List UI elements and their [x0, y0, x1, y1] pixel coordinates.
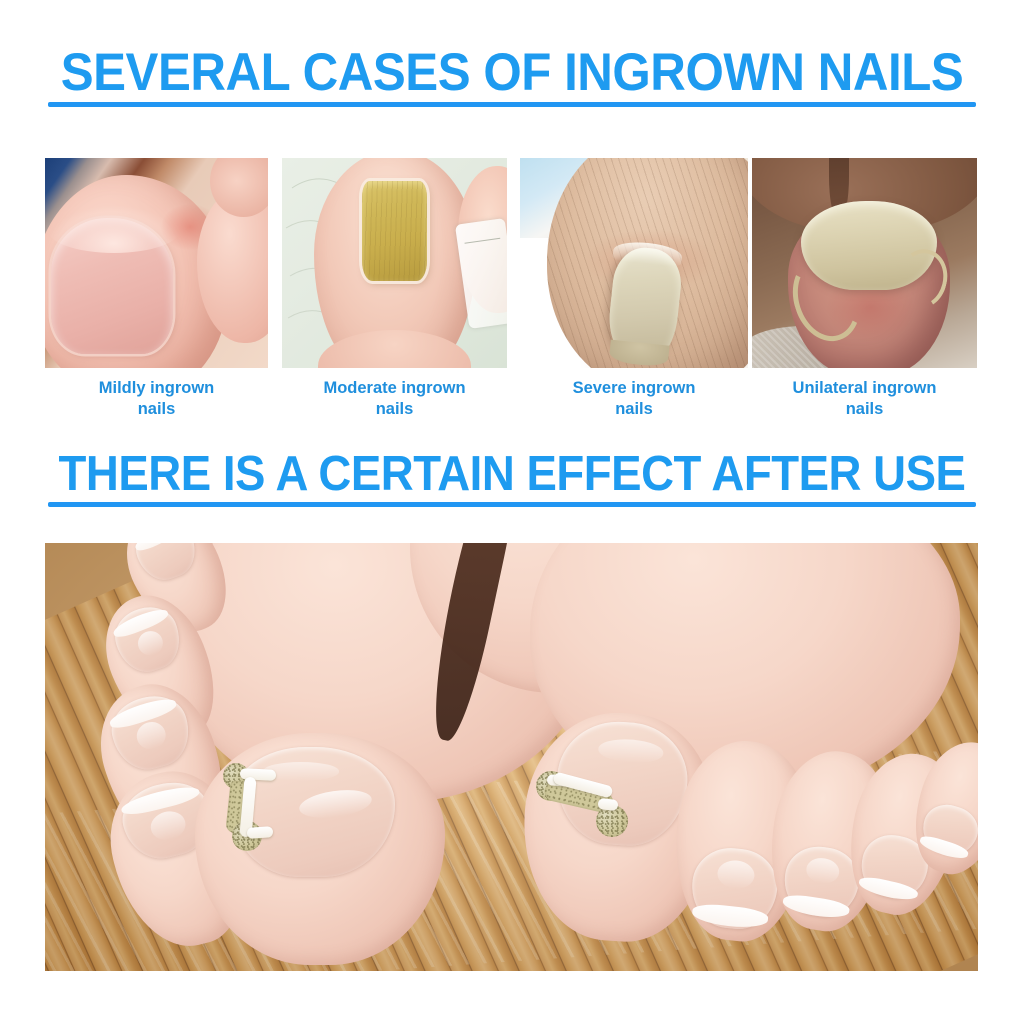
right-foot — [500, 543, 978, 971]
caption-moderate-ingrown: Moderate ingrown nails — [282, 378, 507, 420]
nail-correction-patch-right — [536, 771, 632, 837]
top-heading-underline — [48, 102, 976, 107]
patch-band-right — [597, 798, 618, 811]
photo-unilateral-ingrown — [752, 158, 977, 368]
infographic-page: SEVERAL CASES OF INGROWN NAILS — [0, 0, 1024, 1024]
caption-unilateral-ingrown: Unilateral ingrown nails — [752, 378, 977, 420]
photo-mildly-ingrown — [45, 158, 268, 368]
hero-photo-after-use — [45, 543, 978, 971]
case-thumbnail-mildly-ingrown[interactable] — [45, 158, 268, 368]
bottom-heading-underline — [48, 502, 976, 507]
case-thumbnail-moderate-ingrown[interactable] — [282, 158, 507, 368]
top-heading-text: SEVERAL CASES OF INGROWN NAILS — [36, 46, 988, 99]
patch-band-bottom — [247, 826, 274, 839]
caption-line-2: nails — [376, 400, 414, 418]
case-thumbnail-row — [45, 158, 977, 368]
caption-line-1: Mildly ingrown — [99, 379, 215, 397]
bottom-heading-block: THERE IS A CERTAIN EFFECT AFTER USE — [0, 450, 1024, 499]
bottom-heading-text: THERE IS A CERTAIN EFFECT AFTER USE — [36, 450, 988, 499]
photo-severe-ingrown — [520, 158, 748, 368]
photo-moderate-ingrown — [282, 158, 507, 368]
caption-mildly-ingrown: Mildly ingrown nails — [45, 378, 268, 420]
nail-correction-patch-left — [223, 763, 293, 853]
top-heading-block: SEVERAL CASES OF INGROWN NAILS — [0, 46, 1024, 99]
caption-line-2: nails — [846, 400, 884, 418]
caption-line-1: Unilateral ingrown — [793, 379, 937, 397]
caption-line-1: Moderate ingrown — [323, 379, 465, 397]
case-thumbnail-unilateral-ingrown[interactable] — [752, 158, 977, 368]
caption-line-2: nails — [138, 400, 176, 418]
caption-line-1: Severe ingrown — [573, 379, 696, 397]
caption-line-2: nails — [615, 400, 653, 418]
case-thumbnail-severe-ingrown[interactable] — [520, 158, 748, 368]
caption-severe-ingrown: Severe ingrown nails — [520, 378, 748, 420]
case-caption-row: Mildly ingrown nails Moderate ingrown na… — [45, 378, 977, 430]
